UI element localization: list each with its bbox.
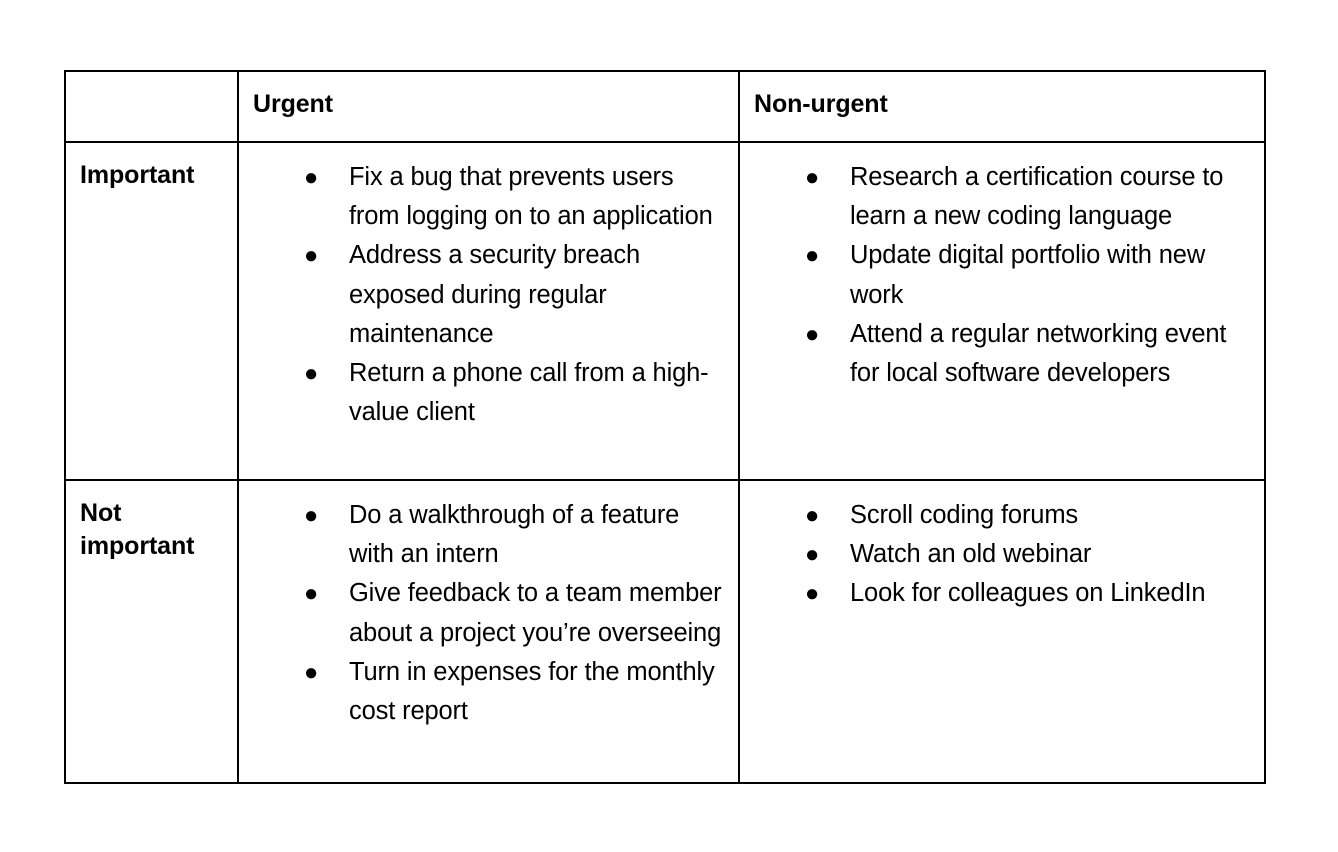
bullet-icon: ●	[802, 535, 822, 574]
table-corner-cell	[65, 71, 238, 142]
task-text: Attend a regular networking event for lo…	[850, 315, 1250, 393]
row-header-important-line-1: Important	[80, 159, 229, 192]
list-item: ● Look for colleagues on LinkedIn	[740, 574, 1250, 613]
row-header-not-important-line-1: Not	[80, 497, 229, 530]
list-item: ● Watch an old webinar	[740, 535, 1250, 574]
table-row-important: Important ● Fix a bug that prevents user…	[65, 142, 1265, 480]
list-item: ● Do a walkthrough of a feature with an …	[239, 496, 724, 574]
column-header-urgent-cell: Urgent	[238, 71, 739, 142]
table-header-row: Urgent Non-urgent	[65, 71, 1265, 142]
task-text: Address a security breach exposed during…	[349, 236, 724, 354]
cell-not-important-urgent: ● Do a walkthrough of a feature with an …	[238, 480, 739, 783]
task-text: Watch an old webinar	[850, 535, 1250, 574]
task-list-important-urgent: ● Fix a bug that prevents users from log…	[239, 143, 738, 442]
task-text: Look for colleagues on LinkedIn	[850, 574, 1250, 613]
task-text: Give feedback to a team member about a p…	[349, 574, 724, 652]
task-text: Fix a bug that prevents users from loggi…	[349, 158, 724, 236]
bullet-icon: ●	[301, 496, 321, 535]
priority-matrix-table: Urgent Non-urgent Important ●	[64, 70, 1266, 784]
row-header-not-important-line-2: important	[80, 530, 229, 563]
column-header-nonurgent-cell: Non-urgent	[739, 71, 1265, 142]
list-item: ● Fix a bug that prevents users from log…	[239, 158, 724, 236]
table-row-not-important: Not important ● Do a walkthrough of a fe…	[65, 480, 1265, 783]
bullet-icon: ●	[802, 496, 822, 535]
column-header-urgent: Urgent	[239, 72, 738, 120]
task-list-important-nonurgent: ● Research a certification course to lea…	[740, 143, 1264, 403]
task-list-not-important-urgent: ● Do a walkthrough of a feature with an …	[239, 481, 738, 741]
corner-label	[66, 72, 237, 88]
task-text: Research a certification course to learn…	[850, 158, 1250, 236]
cell-important-nonurgent: ● Research a certification course to lea…	[739, 142, 1265, 480]
list-item: ● Address a security breach exposed duri…	[239, 236, 724, 354]
task-text: Scroll coding forums	[850, 496, 1250, 535]
task-text: Turn in expenses for the monthly cost re…	[349, 653, 724, 731]
task-list-not-important-nonurgent: ● Scroll coding forums ● Watch an old we…	[740, 481, 1264, 624]
row-header-not-important-cell: Not important	[65, 480, 238, 783]
bullet-icon: ●	[802, 236, 822, 275]
priority-matrix-container: Urgent Non-urgent Important ●	[64, 70, 1264, 784]
bullet-icon: ●	[802, 574, 822, 613]
bullet-icon: ●	[301, 354, 321, 393]
row-header-important: Important	[66, 143, 237, 192]
row-header-important-cell: Important	[65, 142, 238, 480]
bullet-icon: ●	[301, 158, 321, 197]
task-text: Return a phone call from a high-value cl…	[349, 354, 724, 432]
list-item: ● Return a phone call from a high-value …	[239, 354, 724, 432]
task-text: Do a walkthrough of a feature with an in…	[349, 496, 724, 574]
bullet-icon: ●	[301, 653, 321, 692]
list-item: ● Scroll coding forums	[740, 496, 1250, 535]
bullet-icon: ●	[802, 315, 822, 354]
cell-not-important-nonurgent: ● Scroll coding forums ● Watch an old we…	[739, 480, 1265, 783]
list-item: ● Turn in expenses for the monthly cost …	[239, 653, 724, 731]
column-header-nonurgent: Non-urgent	[740, 72, 1264, 120]
list-item: ● Give feedback to a team member about a…	[239, 574, 724, 652]
list-item: ● Research a certification course to lea…	[740, 158, 1250, 236]
bullet-icon: ●	[301, 574, 321, 613]
row-header-not-important: Not important	[66, 481, 237, 564]
list-item: ● Attend a regular networking event for …	[740, 315, 1250, 393]
cell-important-urgent: ● Fix a bug that prevents users from log…	[238, 142, 739, 480]
bullet-icon: ●	[802, 158, 822, 197]
list-item: ● Update digital portfolio with new work	[740, 236, 1250, 314]
task-text: Update digital portfolio with new work	[850, 236, 1250, 314]
bullet-icon: ●	[301, 236, 321, 275]
